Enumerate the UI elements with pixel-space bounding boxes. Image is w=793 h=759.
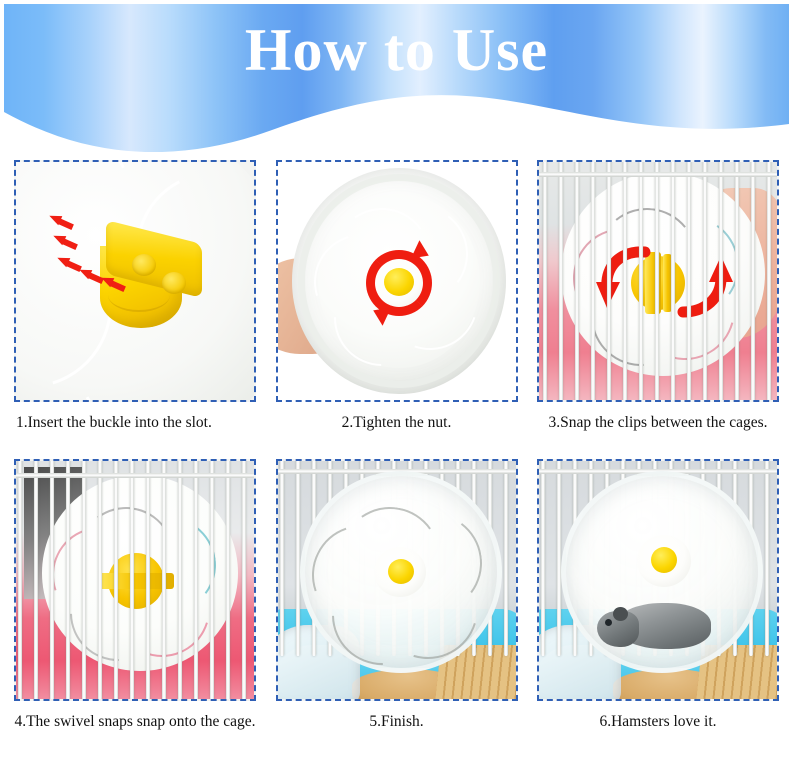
- steps-row-2: 4.The swivel snaps snap onto the cage.: [0, 459, 793, 751]
- hamster: [597, 599, 713, 651]
- rotate-arrow-icon: [366, 250, 432, 316]
- step-image-4[interactable]: [14, 459, 256, 701]
- step-card-3: 3.Snap the clips between the cages.: [537, 160, 779, 452]
- step-card-2: 2.Tighten the nut.: [276, 160, 518, 452]
- step-image-6[interactable]: [537, 459, 779, 701]
- steps-grid: 1.Insert the buckle into the slot.: [0, 160, 793, 751]
- curved-arrow-right-icon: [675, 254, 735, 320]
- step-image-2[interactable]: [276, 160, 518, 402]
- yellow-clip-bar: [98, 573, 174, 589]
- step-caption-3: 3.Snap the clips between the cages.: [537, 414, 779, 452]
- curved-arrow-left-icon: [595, 246, 655, 312]
- page-header: How to Use: [4, 4, 789, 152]
- step-caption-2: 2.Tighten the nut.: [276, 414, 518, 452]
- step-caption-1: 1.Insert the buckle into the slot.: [14, 414, 256, 452]
- step-image-5[interactable]: [276, 459, 518, 701]
- step-caption-4: 4.The swivel snaps snap onto the cage.: [14, 713, 256, 751]
- header-wave-divider: [4, 66, 789, 152]
- yellow-nut-icon: [651, 547, 677, 573]
- step-image-1[interactable]: [14, 160, 256, 402]
- step-caption-5: 5.Finish.: [276, 713, 518, 751]
- step-image-3[interactable]: [537, 160, 779, 402]
- step-card-6: 6.Hamsters love it.: [537, 459, 779, 751]
- step-card-1: 1.Insert the buckle into the slot.: [14, 160, 256, 452]
- step-caption-6: 6.Hamsters love it.: [537, 713, 779, 751]
- step-card-5: 5.Finish.: [276, 459, 518, 751]
- steps-row-1: 1.Insert the buckle into the slot.: [0, 160, 793, 452]
- step-card-4: 4.The swivel snaps snap onto the cage.: [14, 459, 256, 751]
- yellow-clip-bar: [663, 254, 672, 312]
- yellow-nut-icon: [388, 559, 414, 584]
